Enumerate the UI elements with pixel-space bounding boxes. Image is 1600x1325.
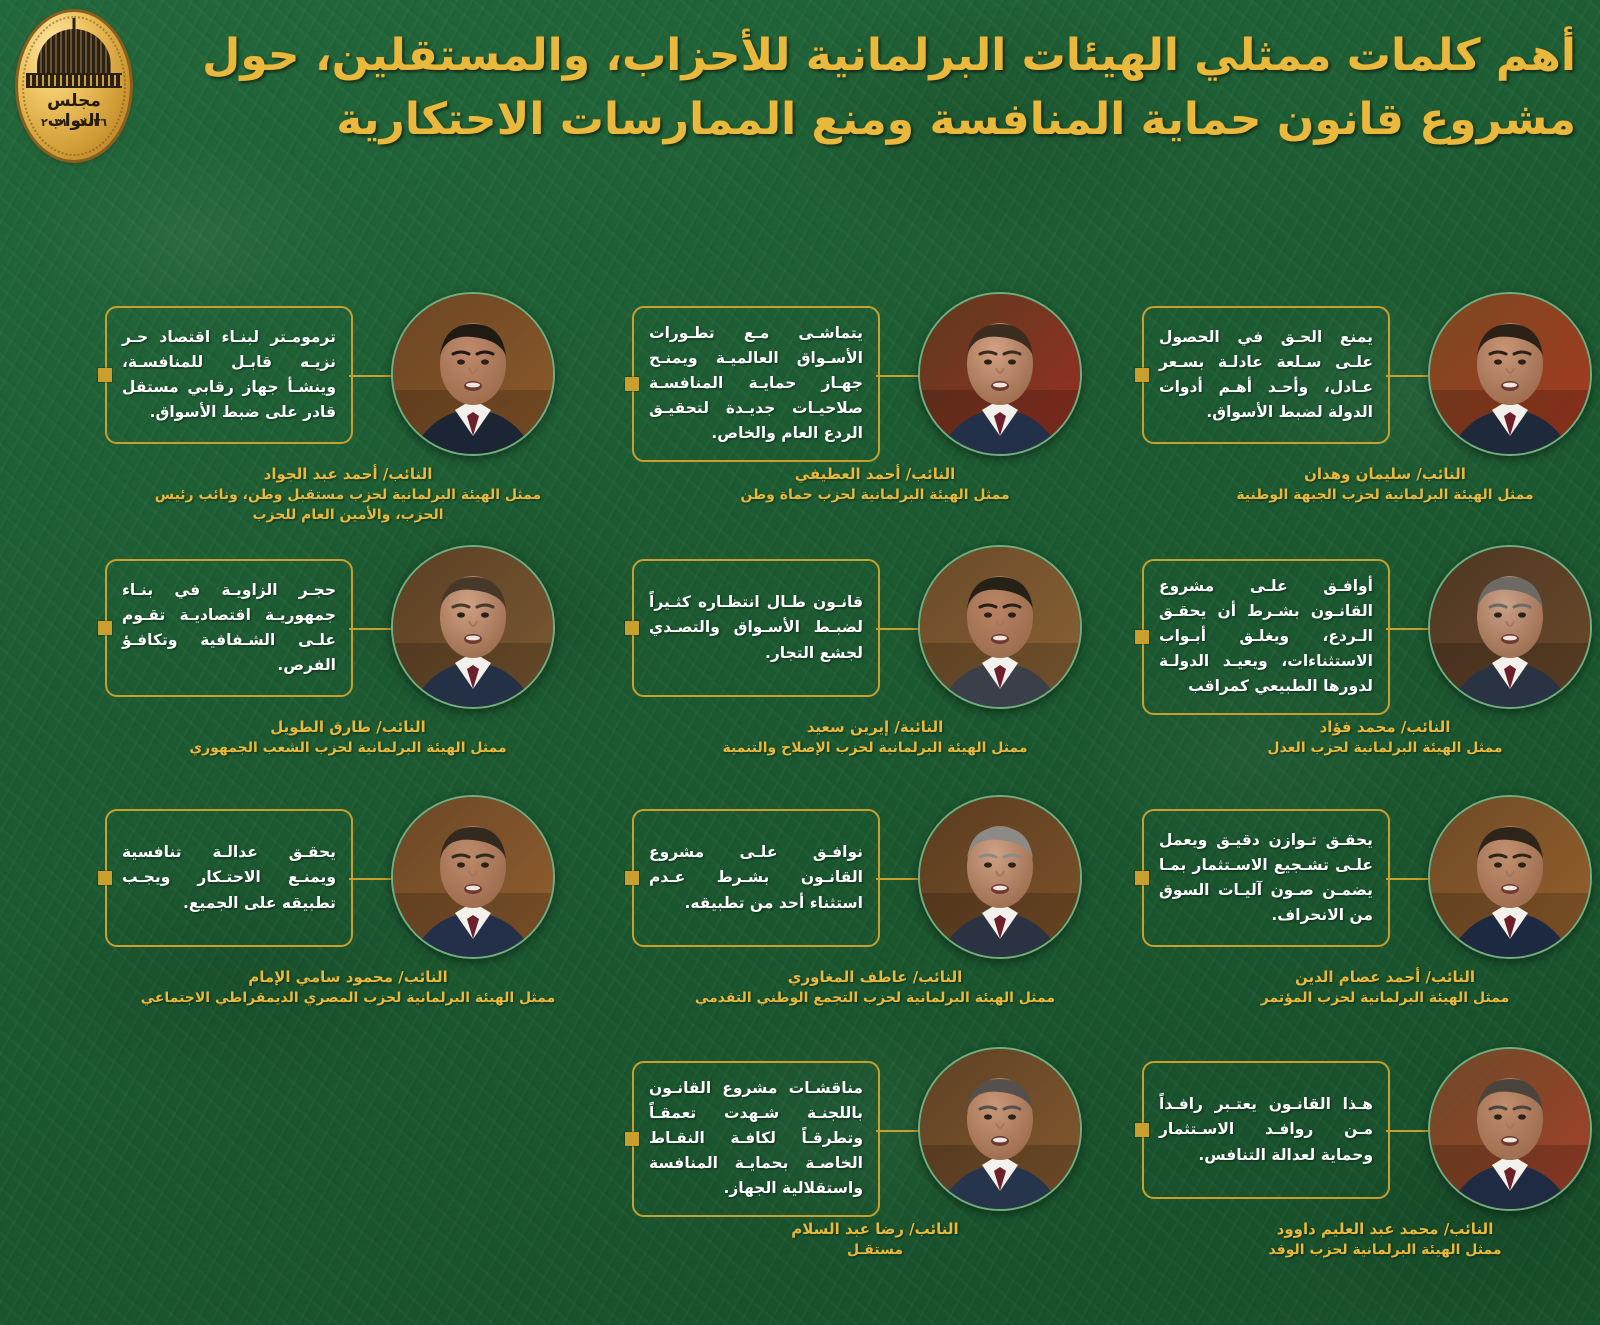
- member-caption: النائب/ طارق الطويل ممثل الهيئة البرلمان…: [133, 717, 563, 759]
- member-name: النائب/ رضا عبد السلام: [660, 1219, 1090, 1240]
- member-name: النائب/ أحمد العطيفي: [660, 464, 1090, 485]
- member-portrait: [1428, 1047, 1592, 1211]
- member-name: النائب/ طارق الطويل: [133, 717, 563, 738]
- member-caption: النائب/ أحمد عبد الجواد ممثل الهيئة البر…: [133, 464, 563, 526]
- member-portrait: [918, 292, 1082, 456]
- member-portrait: [918, 545, 1082, 709]
- member-name: النائب/ أحمد عصام الدين: [1170, 967, 1600, 988]
- title-line-1: أهم كلمات ممثلي الهيئات البرلمانية للأحز…: [176, 26, 1576, 86]
- connector-line: [1386, 375, 1432, 377]
- statement-card: يمنع الحـق في الحصول علـى سـلعة عادلـة ب…: [1095, 288, 1600, 538]
- connector-line: [876, 375, 922, 377]
- connector-node-icon: [1135, 368, 1149, 382]
- connector-line: [349, 375, 395, 377]
- connector-line: [1386, 628, 1432, 630]
- connector-line: [876, 628, 922, 630]
- member-caption: النائب/ أحمد العطيفي ممثل الهيئة البرلما…: [660, 464, 1090, 506]
- member-caption: النائب/ أحمد عصام الدين ممثل الهيئة البر…: [1170, 967, 1600, 1009]
- quote-bubble: هـذا القانـون يعتـبر رافـداً مـن روافـد …: [1142, 1061, 1390, 1199]
- statement-card: مناقشـات مشروع القانـون باللجنـة شـهدت ت…: [585, 1043, 1090, 1293]
- quote-text: يمنع الحـق في الحصول علـى سـلعة عادلـة ب…: [1159, 325, 1373, 425]
- member-name: النائب/ أحمد عبد الجواد: [133, 464, 563, 485]
- member-portrait: [1428, 795, 1592, 959]
- connector-node-icon: [625, 871, 639, 885]
- quote-text: قانـون طـال انتظـاره كثـيراً لضبـط الأسـ…: [649, 590, 863, 665]
- quote-text: يحقـق تـوازن دقيـق ويعمل علـى تشـجيع الا…: [1159, 828, 1373, 928]
- member-role: ممثل الهيئة البرلمانية لحزب الشعب الجمهو…: [133, 739, 563, 759]
- connector-node-icon: [625, 1132, 639, 1146]
- parliament-colonnade-icon: [26, 73, 122, 88]
- statement-card: أوافـق علـى مشروع القانـون بشـرط أن يحقـ…: [1095, 541, 1600, 791]
- connector-node-icon: [98, 871, 112, 885]
- quote-bubble: ترمومـتر لبنـاء اقتصاد حـر نزيـه قابـل ل…: [105, 306, 353, 444]
- member-role: ممثل الهيئة البرلمانية لحزب التجمع الوطن…: [660, 989, 1090, 1009]
- member-name: النائب/ سليمان وهدان: [1170, 464, 1600, 485]
- statement-card: قانـون طـال انتظـاره كثـيراً لضبـط الأسـ…: [585, 541, 1090, 791]
- quote-text: يحقـق عدالـة تنافسية ويمنـع الاحتـكار وي…: [122, 840, 336, 915]
- member-caption: النائب/ محمود سامي الإمام ممثل الهيئة ال…: [133, 967, 563, 1009]
- member-caption: النائب/ سليمان وهدان ممثل الهيئة البرلما…: [1170, 464, 1600, 506]
- connector-node-icon: [1135, 871, 1149, 885]
- quote-bubble: نوافـق علـى مشروع القانـون بشـرط عـدم اس…: [632, 809, 880, 947]
- statement-card: يحقـق تـوازن دقيـق ويعمل علـى تشـجيع الا…: [1095, 791, 1600, 1041]
- member-portrait: [391, 795, 555, 959]
- infographic-header: مجلس النواب ٢٠٢٦ - ٢٠٣١ أهم كلمات ممثلي …: [0, 0, 1600, 235]
- member-portrait: [918, 795, 1082, 959]
- member-role: ممثل الهيئة البرلمانية لحزب المصري الديم…: [133, 989, 563, 1009]
- connector-line: [876, 1130, 922, 1132]
- connector-node-icon: [625, 377, 639, 391]
- member-portrait: [918, 1047, 1082, 1211]
- quote-bubble: مناقشـات مشروع القانـون باللجنـة شـهدت ت…: [632, 1061, 880, 1217]
- statement-card: يتماشـى مـع تطـورات الأسـواق العالميـة و…: [585, 288, 1090, 538]
- quote-text: ترمومـتر لبنـاء اقتصاد حـر نزيـه قابـل ل…: [122, 325, 336, 425]
- quote-bubble: يحقـق تـوازن دقيـق ويعمل علـى تشـجيع الا…: [1142, 809, 1390, 947]
- member-name: النائبة/ إيرين سعيد: [660, 717, 1090, 738]
- quote-text: هـذا القانـون يعتـبر رافـداً مـن روافـد …: [1159, 1092, 1373, 1167]
- member-caption: النائب/ محمد فؤاد ممثل الهيئة البرلمانية…: [1170, 717, 1600, 759]
- member-caption: النائب/ رضا عبد السلام مستقـل: [660, 1219, 1090, 1261]
- member-name: النائب/ محمد فؤاد: [1170, 717, 1600, 738]
- connector-node-icon: [1135, 630, 1149, 644]
- member-name: النائب/ عاطف المغاوري: [660, 967, 1090, 988]
- member-role: ممثل الهيئة البرلمانية لحزب الجبهة الوطن…: [1170, 486, 1600, 506]
- member-role: ممثل الهيئة البرلمانية لحزب حماة وطن: [660, 486, 1090, 506]
- connector-node-icon: [98, 368, 112, 382]
- member-caption: النائب/ محمد عبد العليم داوود ممثل الهيئ…: [1170, 1219, 1600, 1261]
- connector-line: [876, 878, 922, 880]
- member-role: ممثل الهيئة البرلمانية لحزب الوفد: [1170, 1241, 1600, 1261]
- title-line-2: مشروع قانون حماية المنافسة ومنع الممارسا…: [176, 90, 1576, 150]
- connector-node-icon: [1135, 1123, 1149, 1137]
- member-role: ممثل الهيئة البرلمانية لحزب مستقبل وطن، …: [133, 486, 563, 526]
- quote-bubble: حجـر الزاويـة في بنـاء جمهوريـة اقتصاديـ…: [105, 559, 353, 697]
- statement-card: حجـر الزاويـة في بنـاء جمهوريـة اقتصاديـ…: [58, 541, 563, 791]
- quote-bubble: أوافـق علـى مشروع القانـون بشـرط أن يحقـ…: [1142, 559, 1390, 715]
- quote-bubble: يتماشـى مـع تطـورات الأسـواق العالميـة و…: [632, 306, 880, 462]
- member-caption: النائبة/ إيرين سعيد ممثل الهيئة البرلمان…: [660, 717, 1090, 759]
- connector-line: [1386, 1130, 1432, 1132]
- member-role: مستقـل: [660, 1241, 1090, 1261]
- connector-node-icon: [625, 621, 639, 635]
- member-portrait: [1428, 545, 1592, 709]
- quote-text: أوافـق علـى مشروع القانـون بشـرط أن يحقـ…: [1159, 574, 1373, 700]
- quote-text: حجـر الزاويـة في بنـاء جمهوريـة اقتصاديـ…: [122, 578, 336, 678]
- connector-line: [1386, 878, 1432, 880]
- member-portrait: [1428, 292, 1592, 456]
- quote-bubble: قانـون طـال انتظـاره كثـيراً لضبـط الأسـ…: [632, 559, 880, 697]
- connector-line: [349, 878, 395, 880]
- parliament-seal-logo: مجلس النواب ٢٠٢٦ - ٢٠٣١: [18, 12, 130, 160]
- quote-text: مناقشـات مشروع القانـون باللجنـة شـهدت ت…: [649, 1076, 863, 1202]
- member-portrait: [391, 292, 555, 456]
- page-title: أهم كلمات ممثلي الهيئات البرلمانية للأحز…: [176, 26, 1576, 150]
- statement-card: نوافـق علـى مشروع القانـون بشـرط عـدم اس…: [585, 791, 1090, 1041]
- quote-text: نوافـق علـى مشروع القانـون بشـرط عـدم اس…: [649, 840, 863, 915]
- connector-node-icon: [98, 621, 112, 635]
- statement-card: هـذا القانـون يعتـبر رافـداً مـن روافـد …: [1095, 1043, 1600, 1293]
- quote-bubble: يحقـق عدالـة تنافسية ويمنـع الاحتـكار وي…: [105, 809, 353, 947]
- member-caption: النائب/ عاطف المغاوري ممثل الهيئة البرلم…: [660, 967, 1090, 1009]
- statement-card: ترمومـتر لبنـاء اقتصاد حـر نزيـه قابـل ل…: [58, 288, 563, 538]
- member-name: النائب/ محمد عبد العليم داوود: [1170, 1219, 1600, 1240]
- seal-years: ٢٠٢٦ - ٢٠٣١: [18, 116, 130, 129]
- member-name: النائب/ محمود سامي الإمام: [133, 967, 563, 988]
- statement-card: يحقـق عدالـة تنافسية ويمنـع الاحتـكار وي…: [58, 791, 563, 1041]
- quote-bubble: يمنع الحـق في الحصول علـى سـلعة عادلـة ب…: [1142, 306, 1390, 444]
- member-role: ممثل الهيئة البرلمانية لحزب المؤتمر: [1170, 989, 1600, 1009]
- quote-text: يتماشـى مـع تطـورات الأسـواق العالميـة و…: [649, 321, 863, 447]
- member-role: ممثل الهيئة البرلمانية لحزب العدل: [1170, 739, 1600, 759]
- connector-line: [349, 628, 395, 630]
- member-portrait: [391, 545, 555, 709]
- member-role: ممثل الهيئة البرلمانية لحزب الإصلاح والت…: [660, 739, 1090, 759]
